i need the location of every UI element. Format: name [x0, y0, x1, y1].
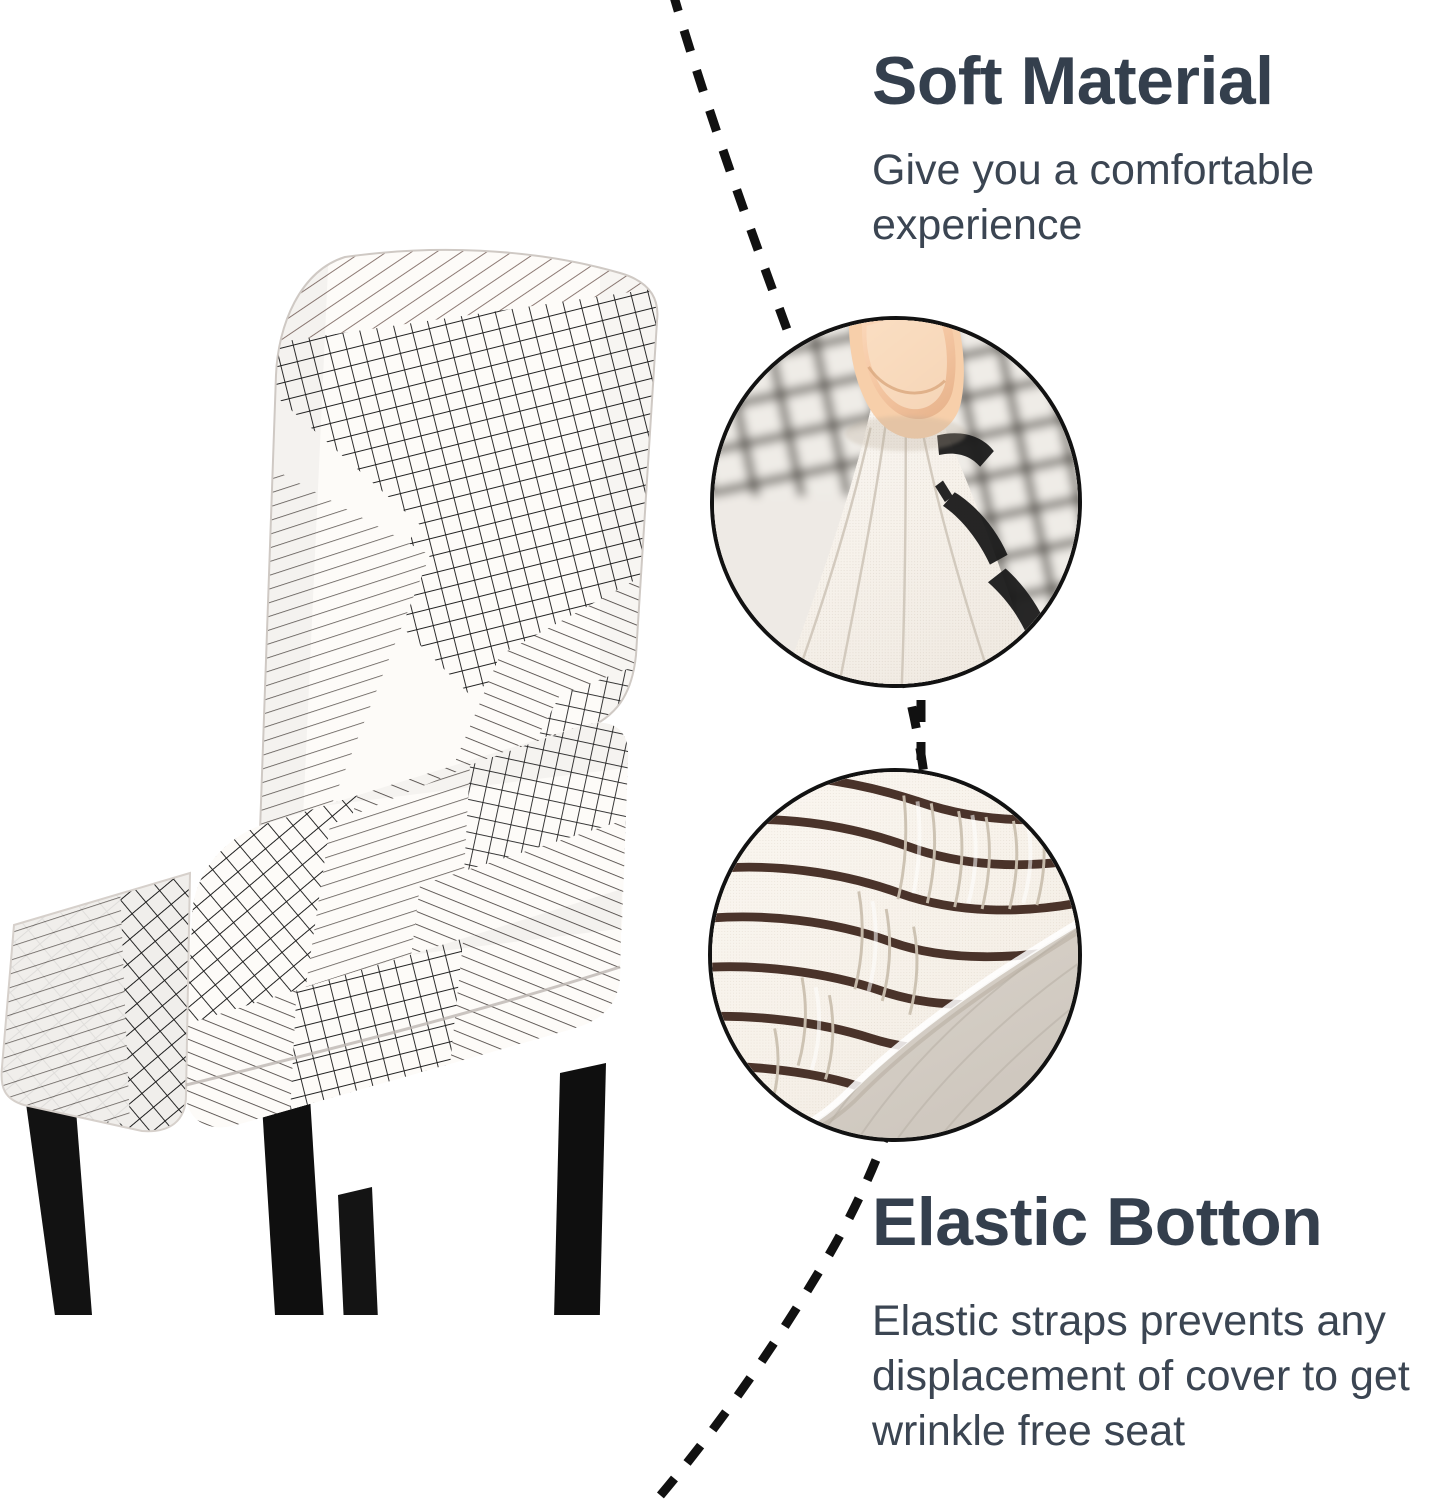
chair-svg [0, 225, 740, 1315]
chair-product-image [0, 225, 740, 1315]
finger-shadow [845, 416, 966, 451]
feature-block-soft-material: Soft Material Give you a comfortable exp… [872, 46, 1432, 253]
feature-description-soft-material: Give you a comfortable experience [872, 143, 1432, 253]
infographic-canvas: Soft Material Give you a comfortable exp… [0, 0, 1447, 1500]
inset-soft-material-photo [710, 316, 1082, 688]
finger-pinch-icon [714, 320, 1078, 684]
feature-description-elastic-botton: Elastic straps prevents any displacement… [872, 1294, 1447, 1459]
feature-title-soft-material: Soft Material [872, 46, 1432, 117]
inset-elastic-hem-photo [708, 768, 1082, 1142]
elastic-band-icon [712, 772, 1078, 1138]
feature-block-elastic-botton: Elastic Botton Elastic straps prevents a… [872, 1187, 1447, 1459]
feature-title-elastic-botton: Elastic Botton [872, 1187, 1447, 1258]
